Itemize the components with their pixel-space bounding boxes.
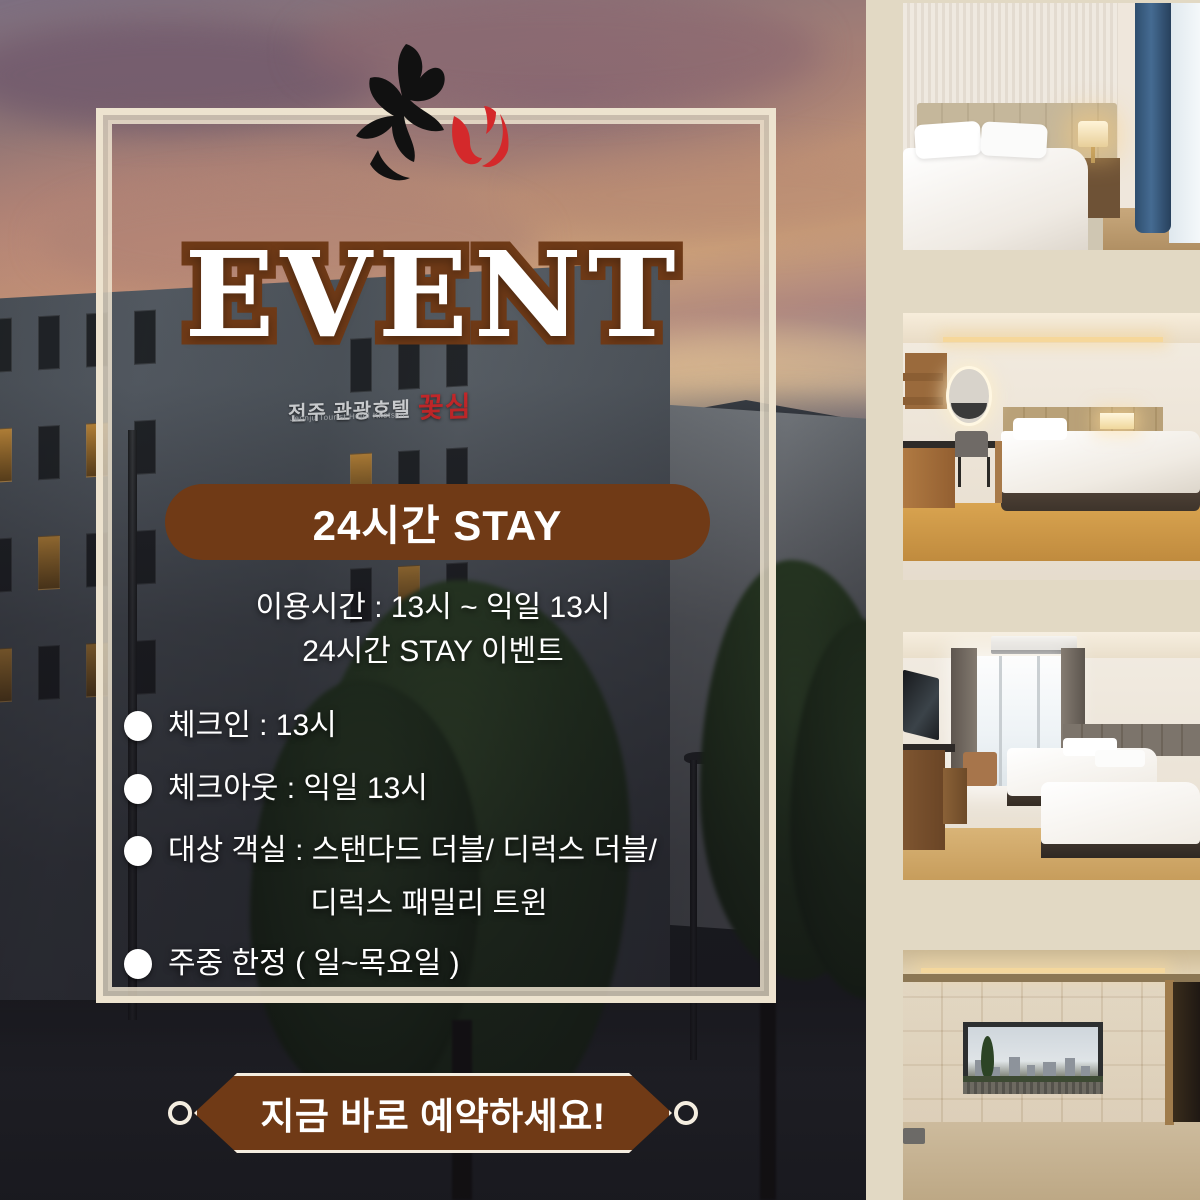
reserve-now-cta[interactable]: 지금 바로 예약하세요! bbox=[168, 1073, 698, 1153]
page-title: EVENT bbox=[0, 225, 866, 364]
reserve-now-label: 지금 바로 예약하세요! bbox=[260, 1086, 605, 1140]
bullet-dot-icon bbox=[124, 836, 152, 866]
event-poster: 전주 관광호텔 꽃심 Jeonju Tourist Hotel Kkotsim bbox=[0, 0, 1200, 1200]
poster-content: EVENT 24시간 STAY 이용시간 : 13시 ~ 익일 13시 24시간… bbox=[0, 0, 866, 1200]
bullet-dot-icon bbox=[124, 711, 152, 741]
main-poster-panel: 전주 관광호텔 꽃심 Jeonju Tourist Hotel Kkotsim bbox=[0, 0, 866, 1200]
reserve-now-button[interactable]: 지금 바로 예약하세요! bbox=[194, 1073, 672, 1153]
bullet-dot-icon bbox=[124, 774, 152, 804]
list-item-continuation: 디럭스 패밀리 트윈 bbox=[124, 878, 764, 922]
stay-duration-label: 24시간 STAY bbox=[313, 492, 563, 553]
event-name-line: 24시간 STAY 이벤트 bbox=[0, 630, 866, 674]
heart-character-icon bbox=[444, 100, 514, 178]
kkotsim-logo-icon bbox=[348, 38, 518, 188]
room-photo-sidebar bbox=[866, 0, 1200, 1200]
list-item-label: 대상 객실 : 스탠다드 더블/ 디럭스 더블/ bbox=[168, 831, 657, 872]
ribbon-cap-right-icon bbox=[674, 1101, 698, 1125]
stay-duration-badge: 24시간 STAY bbox=[165, 484, 710, 560]
room-photo-deluxe-double bbox=[903, 313, 1200, 580]
list-item-label: 체크인 : 13시 bbox=[168, 706, 337, 747]
event-details-list: 체크인 : 13시 체크아웃 : 익일 13시 대상 객실 : 스탠다드 더블/… bbox=[124, 706, 764, 1006]
bullet-dot-icon bbox=[124, 949, 152, 979]
list-item: 대상 객실 : 스탠다드 더블/ 디럭스 더블/ bbox=[124, 831, 764, 872]
lobby-photo-window-view bbox=[903, 950, 1200, 1200]
list-item: 주중 한정 ( 일~목요일 ) bbox=[124, 944, 764, 985]
brand-logo bbox=[0, 38, 866, 192]
event-subtext: 이용시간 : 13시 ~ 익일 13시 24시간 STAY 이벤트 bbox=[0, 586, 866, 673]
room-photo-family-twin bbox=[903, 632, 1200, 880]
list-item: 체크인 : 13시 bbox=[124, 706, 764, 747]
list-item-label: 체크아웃 : 익일 13시 bbox=[168, 769, 428, 810]
usage-hours-line: 이용시간 : 13시 ~ 익일 13시 bbox=[0, 586, 866, 630]
room-photo-standard-double bbox=[903, 3, 1200, 250]
list-item-label: 주중 한정 ( 일~목요일 ) bbox=[168, 944, 460, 985]
list-item: 체크아웃 : 익일 13시 bbox=[124, 769, 764, 810]
ribbon-cap-left-icon bbox=[168, 1101, 192, 1125]
